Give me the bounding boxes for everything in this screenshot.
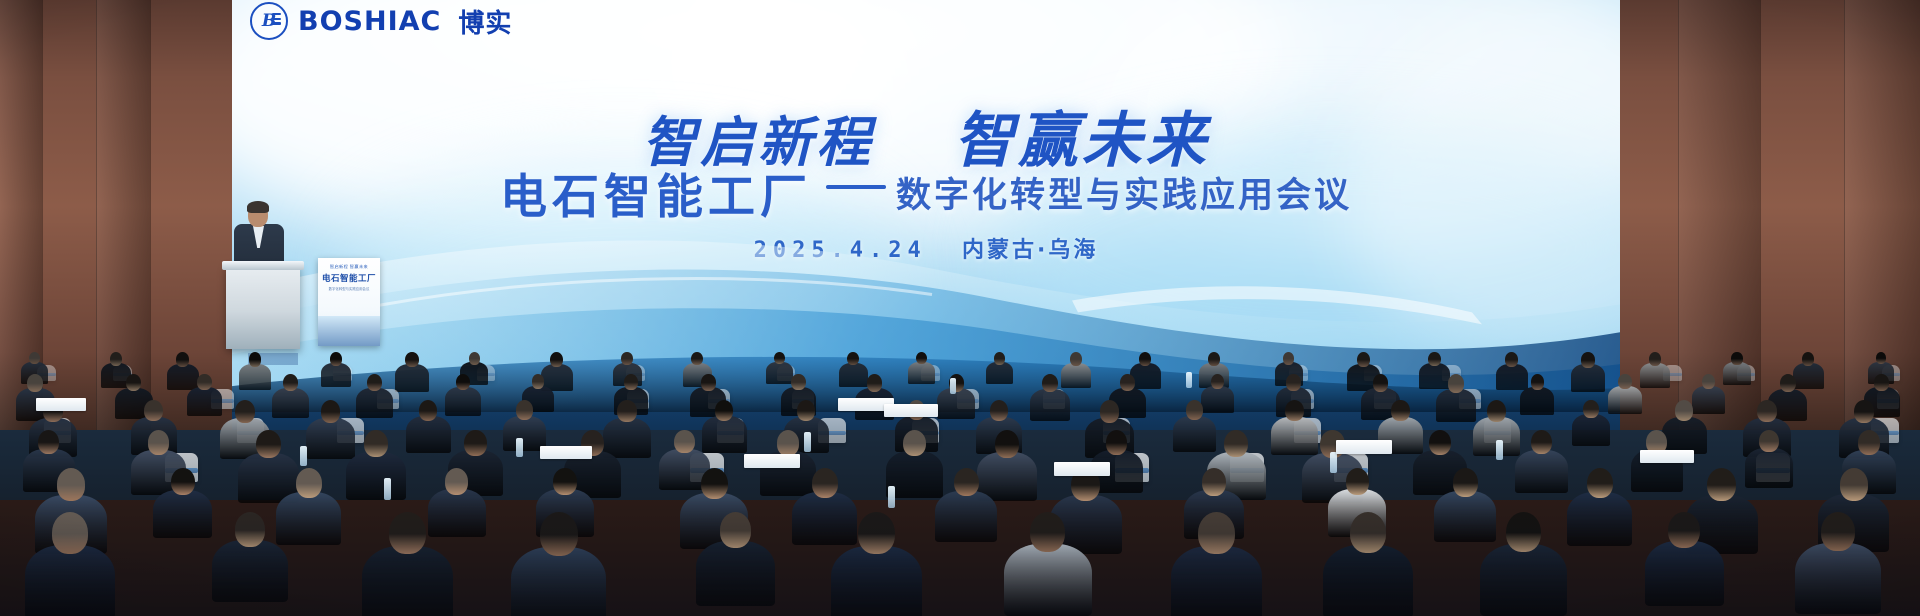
audience-member-head — [1106, 430, 1127, 455]
audience-member-torso — [1640, 363, 1670, 388]
audience-member-torso — [25, 545, 115, 616]
speaker-hair — [247, 201, 269, 213]
audience-member-torso — [1608, 386, 1641, 413]
audience-member-head — [176, 352, 189, 367]
audience-member-head — [52, 512, 88, 554]
audience-member-torso — [356, 388, 393, 419]
audience-member-head — [1357, 352, 1370, 367]
rollup-top-line: 智启新程 智赢未来 — [318, 264, 380, 270]
audience-member-head — [1876, 352, 1887, 364]
audience-member — [1572, 400, 1611, 450]
audience-member-head — [405, 352, 418, 367]
boshiac-logo-icon: B — [250, 2, 288, 40]
audience-member-head — [1587, 468, 1613, 498]
audience-member-head — [445, 468, 468, 495]
audience-member — [937, 374, 975, 424]
audience-member-torso — [272, 388, 309, 419]
audience-member — [1030, 374, 1070, 426]
audience-member-head — [1675, 400, 1693, 421]
audience-member — [935, 468, 997, 549]
audience-member-head — [1759, 430, 1778, 452]
audience-member-head — [144, 400, 162, 421]
audience-member-head — [550, 352, 563, 367]
audience-member-torso — [908, 362, 935, 384]
audience-member-head — [954, 468, 979, 496]
audience-member-torso — [239, 364, 271, 390]
audience-member-torso — [1795, 543, 1881, 613]
audience-member-torso — [986, 362, 1013, 384]
brand-name-cn: 博实 — [458, 3, 512, 40]
table-nameplate — [1640, 450, 1694, 463]
audience-member-torso — [153, 490, 212, 539]
audience-member — [362, 512, 454, 616]
audience-member-head — [720, 512, 752, 548]
audience-member-torso — [187, 387, 222, 416]
audience-member-head — [1505, 352, 1518, 367]
audience-member-head — [1780, 374, 1796, 392]
audience-member — [1795, 512, 1881, 616]
water-bottle — [1186, 372, 1192, 388]
audience-member — [1640, 352, 1670, 391]
audience-member-head — [1120, 374, 1135, 391]
audience-member-head — [990, 400, 1008, 421]
audience-member-head — [126, 374, 141, 391]
water-bottle — [1496, 440, 1503, 460]
audience-member-head — [364, 430, 388, 457]
audience-member — [395, 352, 429, 396]
audience-member-torso — [362, 546, 454, 616]
audience-member-head — [469, 352, 480, 365]
audience-member-head — [1649, 352, 1661, 366]
audience-member-head — [1731, 352, 1742, 365]
audience-member-head — [1757, 400, 1776, 422]
audience-member-torso — [1571, 364, 1605, 392]
audience-member-torso — [1004, 544, 1092, 616]
audience-member-head — [1702, 374, 1715, 389]
audience-member — [1171, 512, 1263, 616]
audience-member — [1480, 512, 1568, 616]
audience-member-torso — [1515, 450, 1568, 494]
audience-member-head — [1224, 430, 1248, 457]
audience-member-torso — [1572, 414, 1611, 446]
audience-member-head — [995, 430, 1019, 458]
audience-member — [1631, 430, 1683, 498]
audience-member-head — [540, 512, 578, 556]
audience-member-head — [1531, 430, 1552, 454]
audience-member-head — [1487, 400, 1506, 422]
audience-member-head — [812, 468, 838, 498]
audience-member-head — [701, 374, 715, 391]
water-bottle — [950, 378, 956, 394]
audience-member-head — [774, 352, 785, 364]
audience-member — [1520, 374, 1554, 418]
audience-member-head — [296, 468, 322, 498]
audience-member-head — [1854, 400, 1874, 423]
audience-seating — [0, 300, 1920, 616]
audience-member-head — [867, 374, 883, 392]
audience-member-torso — [1480, 544, 1568, 616]
audience-member-head — [624, 374, 638, 390]
audience-member-torso — [935, 491, 997, 542]
audience-member-head — [1208, 352, 1220, 366]
audience-member-torso — [1030, 389, 1070, 422]
audience-member-head — [171, 468, 195, 495]
audience-member-head — [256, 430, 281, 458]
audience-member-head — [321, 400, 341, 423]
audience-member-head — [57, 468, 86, 501]
audience-member — [1608, 374, 1641, 417]
audience-member — [346, 430, 405, 507]
audience-member-head — [148, 430, 170, 455]
audience-member-head — [994, 352, 1005, 365]
audience-member — [1004, 512, 1092, 616]
conference-stage-photo: B BOSHIAC 博实 智启新程 智赢未来 电石智能工厂 数字化转型与实践应用… — [0, 0, 1920, 616]
audience-member-torso — [346, 452, 405, 501]
audience-member-head — [1531, 374, 1545, 390]
table-nameplate — [36, 398, 86, 411]
audience-member-head — [1373, 374, 1388, 392]
audience-member-torso — [1323, 545, 1413, 616]
brand-name-en: BOSHIAC — [298, 8, 441, 35]
audience-member-head — [1874, 374, 1888, 391]
audience-member-head — [1285, 400, 1304, 421]
audience-member-head — [456, 374, 470, 390]
audience-member-head — [777, 430, 799, 456]
audience-member — [1323, 512, 1413, 616]
audience-member-head — [621, 352, 632, 365]
audience-member-head — [27, 374, 43, 392]
audience-member — [986, 352, 1013, 387]
audience-member-head — [235, 400, 255, 423]
audience-member-head — [1840, 468, 1868, 501]
audience-member-head — [1428, 352, 1440, 366]
audience-member-head — [1030, 512, 1065, 552]
audience-member-torso — [406, 416, 451, 453]
audience-member — [1571, 352, 1605, 396]
audience-member-head — [516, 400, 533, 420]
audience-member-head — [1707, 468, 1736, 501]
table-nameplate — [540, 446, 592, 459]
audience-member-head — [235, 512, 265, 547]
audience-member — [1645, 512, 1724, 615]
table-nameplate — [1054, 462, 1110, 476]
audience-member-head — [903, 430, 926, 456]
audience-member-head — [330, 352, 342, 366]
audience-member-head — [283, 374, 298, 391]
audience-member-head — [110, 352, 122, 366]
audience-member-head — [1821, 512, 1855, 551]
audience-member-head — [1581, 352, 1595, 368]
audience-member-head — [1858, 430, 1880, 455]
water-bottle — [384, 478, 391, 500]
audience-member-torso — [1171, 546, 1263, 616]
audience-member-head — [29, 352, 40, 364]
audience-member-head — [791, 374, 805, 390]
audience-member-head — [1668, 512, 1700, 548]
audience-member-head — [1100, 400, 1120, 423]
audience-member-head — [464, 430, 486, 456]
audience-member-head — [1211, 374, 1224, 389]
audience-member-torso — [212, 540, 288, 602]
audience-member — [239, 352, 271, 393]
table-nameplate — [744, 454, 800, 468]
audience-member-torso — [511, 547, 606, 616]
audience-member-torso — [1645, 541, 1724, 606]
water-bottle — [516, 438, 523, 457]
audience-member-head — [1283, 352, 1294, 365]
audience-member — [187, 374, 222, 420]
audience-member-torso — [831, 546, 922, 616]
table-nameplate — [1336, 440, 1392, 454]
audience-member — [831, 512, 922, 616]
audience-member-head — [1202, 468, 1226, 496]
audience-member-head — [1286, 374, 1300, 391]
rollup-sub-line: 数字化转型与实践应用会议 — [318, 286, 380, 291]
audience-member-head — [553, 468, 576, 495]
audience-member-head — [389, 512, 426, 554]
table-nameplate — [884, 404, 938, 417]
audience-member-head — [1198, 512, 1235, 554]
audience-member-head — [715, 400, 733, 421]
water-bottle — [804, 432, 811, 452]
audience-member-head — [1186, 400, 1203, 420]
audience-member-torso — [1723, 362, 1751, 385]
audience-member-torso — [1520, 387, 1554, 415]
water-bottle — [300, 446, 307, 466]
audience-member — [321, 352, 351, 391]
audience-member — [25, 512, 115, 616]
audience-member-torso — [395, 364, 429, 392]
audience-member-head — [674, 430, 694, 453]
audience-member — [1515, 430, 1568, 499]
audience-member-head — [617, 400, 636, 422]
audience-member-head — [1453, 468, 1478, 497]
audience-member-head — [797, 400, 815, 421]
audience-member-head — [1391, 400, 1409, 421]
audience-member — [406, 400, 451, 458]
audience-member-head — [38, 430, 59, 454]
audience-member — [212, 512, 288, 611]
audience-member — [1723, 352, 1751, 388]
audience-member — [511, 512, 606, 616]
audience-member-head — [858, 512, 895, 554]
audience-member-torso — [321, 363, 351, 387]
audience-member-head — [1070, 352, 1082, 366]
audience-member-head — [1429, 430, 1451, 455]
audience-member-head — [701, 468, 728, 499]
water-bottle — [1330, 452, 1337, 473]
audience-member-head — [1350, 512, 1386, 553]
audience-member-head — [249, 352, 262, 367]
audience-member-head — [367, 374, 382, 391]
audience-member-head — [1042, 374, 1058, 392]
rollup-main-line: 电石智能工厂 — [318, 272, 380, 284]
lectern-top — [222, 261, 304, 270]
audience-member-head — [847, 352, 859, 365]
audience-member-head — [197, 374, 211, 390]
audience-member-torso — [1567, 492, 1632, 546]
audience-member — [153, 468, 212, 545]
audience-member-head — [419, 400, 437, 421]
audience-member — [1567, 468, 1632, 553]
audience-member-head — [1583, 400, 1598, 418]
audience-member-torso — [696, 541, 775, 606]
audience-member-torso — [937, 388, 975, 419]
brand-logo: B BOSHIAC 博实 — [250, 2, 512, 40]
audience-member — [696, 512, 775, 615]
water-bottle — [888, 486, 895, 508]
audience-member-torso — [1436, 389, 1477, 422]
audience-member-head — [1448, 374, 1464, 393]
audience-member-head — [1618, 374, 1631, 389]
audience-member-head — [1506, 512, 1541, 552]
audience-member — [356, 374, 393, 423]
audience-member-head — [916, 352, 927, 364]
audience-member-head — [1346, 468, 1369, 495]
audience-member — [1436, 374, 1477, 427]
audience-member — [908, 352, 935, 387]
audience-member — [272, 374, 309, 423]
audience-member-head — [532, 374, 545, 389]
